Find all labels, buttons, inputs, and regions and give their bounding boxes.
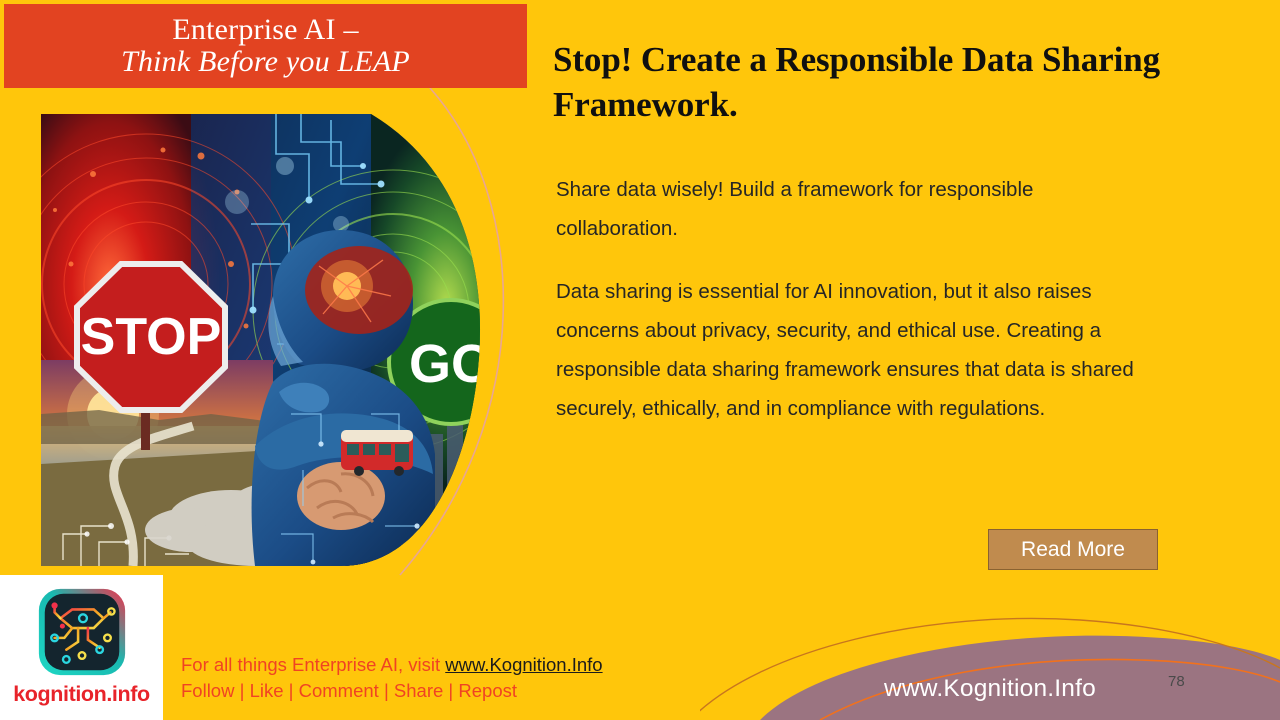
body-paragraph-1: Share data wisely! Build a framework for… xyxy=(556,170,1156,248)
read-more-button[interactable]: Read More xyxy=(988,529,1158,570)
footer-separator-2: | xyxy=(284,680,299,701)
brand-wordmark: kognition.info xyxy=(13,682,150,707)
header-banner-line-2: Think Before you LEAP xyxy=(121,47,410,77)
hero-illustration-art: STOP GO xyxy=(41,114,496,566)
read-more-button-label: Read More xyxy=(1021,538,1125,562)
header-banner-line-1: Enterprise AI – xyxy=(172,15,358,47)
footer-line-1: For all things Enterprise AI, visit www.… xyxy=(181,652,741,678)
body-paragraph-2: Data sharing is essential for AI innovat… xyxy=(556,272,1156,428)
header-banner: Enterprise AI – Think Before you LEAP xyxy=(4,4,527,88)
footer-separator-3: | xyxy=(379,680,394,701)
footer-line-1-prefix: For all things Enterprise AI, visit xyxy=(181,654,445,675)
corner-site-url: www.Kognition.Info xyxy=(884,675,1096,703)
page-number: 78 xyxy=(1168,673,1185,690)
page-title: Stop! Create a Responsible Data Sharing … xyxy=(553,38,1173,126)
footer-separator-1: | xyxy=(234,680,249,701)
circuit-brain-icon xyxy=(33,583,131,681)
svg-text:GO: GO xyxy=(409,334,493,394)
red-bus-graphic xyxy=(341,430,413,476)
footer-text: For all things Enterprise AI, visit www.… xyxy=(181,652,741,704)
slide-canvas: Enterprise AI – Think Before you LEAP xyxy=(0,0,1280,720)
brand-logo-card[interactable]: kognition.info xyxy=(0,575,163,720)
footer-action-share[interactable]: Share xyxy=(394,680,443,701)
footer-action-like[interactable]: Like xyxy=(250,680,284,701)
footer-action-follow[interactable]: Follow xyxy=(181,680,234,701)
footer-action-comment[interactable]: Comment xyxy=(299,680,379,701)
footer-action-repost[interactable]: Repost xyxy=(458,680,517,701)
body-copy: Share data wisely! Build a framework for… xyxy=(556,170,1156,428)
svg-text:STOP: STOP xyxy=(81,308,222,366)
footer-website-link[interactable]: www.Kognition.Info xyxy=(445,654,602,675)
ai-figure-graphic xyxy=(252,230,435,566)
hero-illustration: STOP GO xyxy=(41,114,496,566)
footer-separator-4: | xyxy=(443,680,458,701)
footer-line-2: Follow | Like | Comment | Share | Repost xyxy=(181,678,741,704)
